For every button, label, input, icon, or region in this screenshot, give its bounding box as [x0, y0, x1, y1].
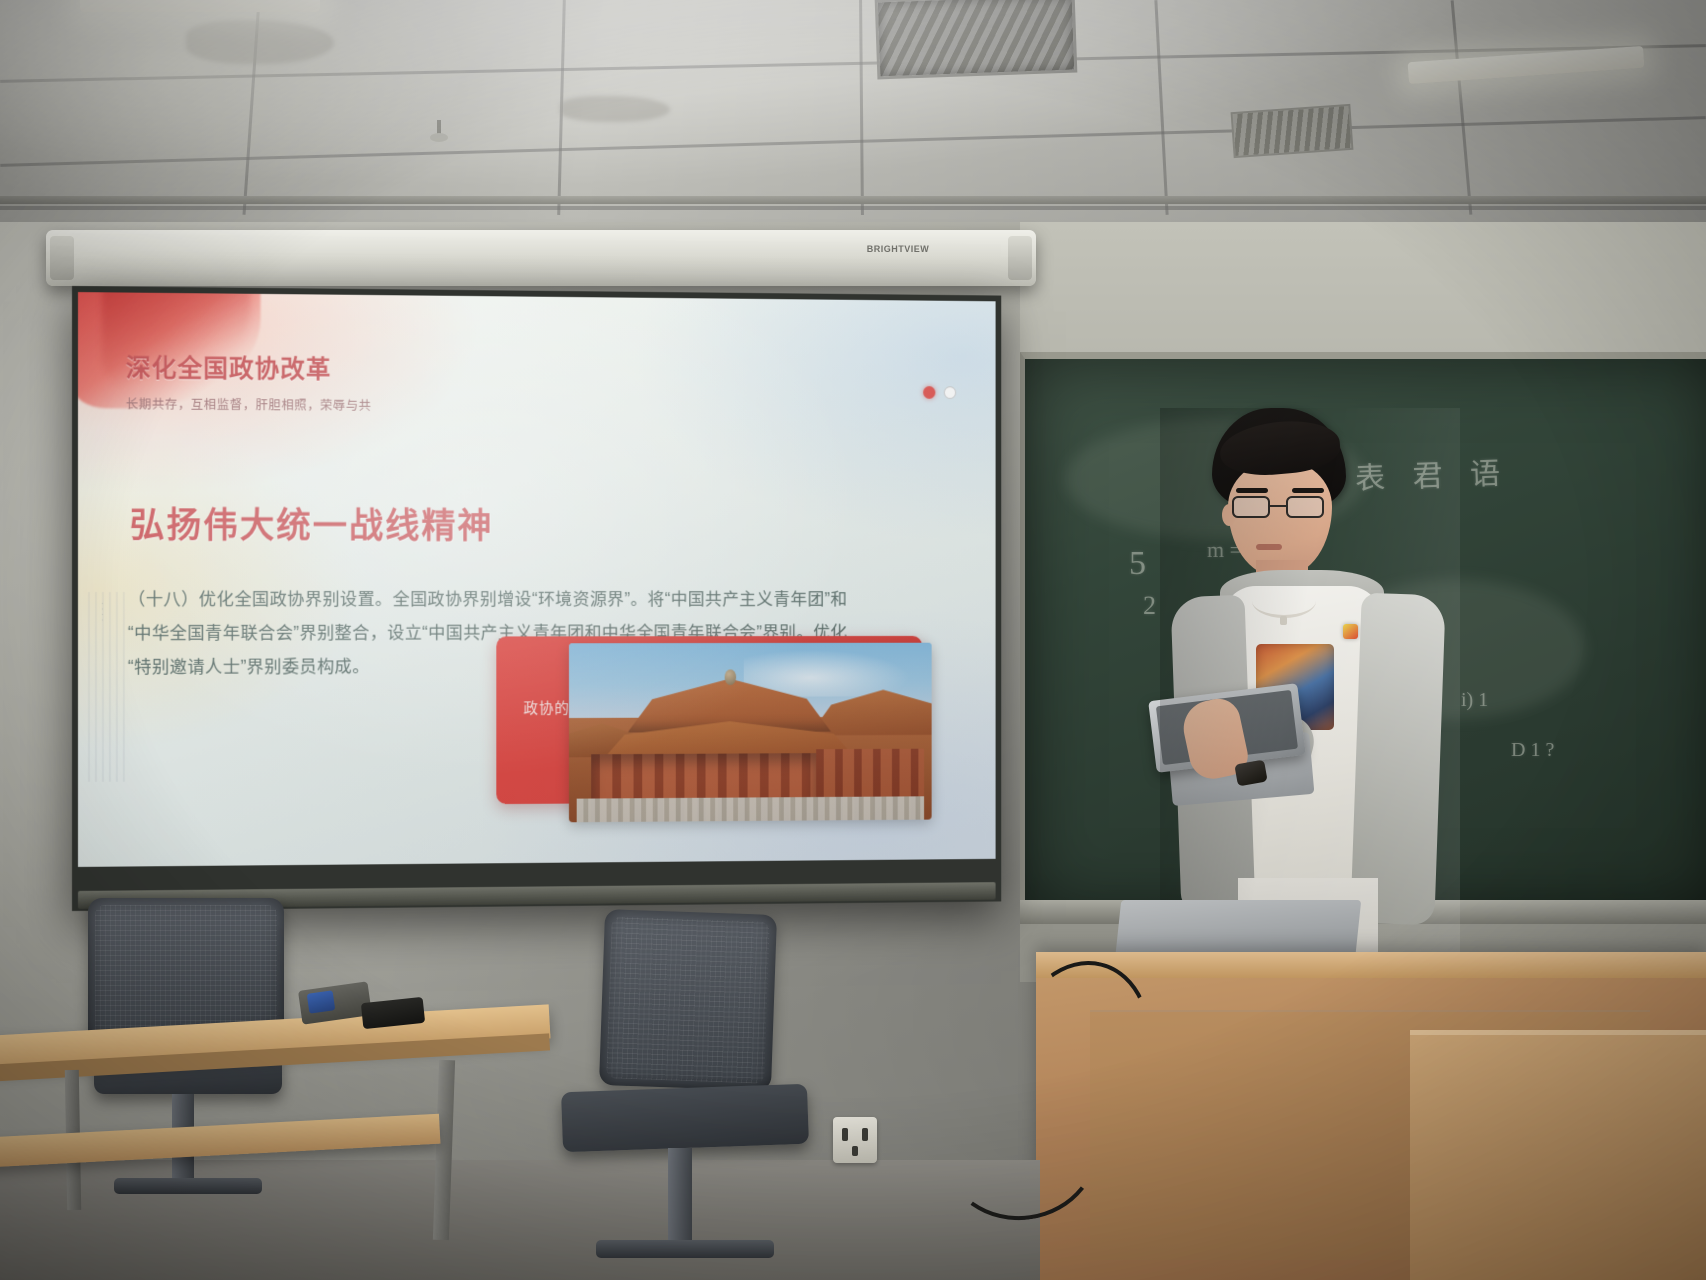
presenter-face	[1228, 460, 1332, 576]
classroom-scene: 表 君 语 5 2 m = 1 i) 1 D 1 ? BRIGHTVIEW · …	[0, 0, 1706, 1280]
presentation-slide[interactable]: · · · · 深化全国政协改革 长期共存，互相监督，肝胆相照，荣辱与共 弘扬伟…	[78, 292, 996, 867]
watermark-text: · · · ·	[92, 602, 108, 722]
ceiling	[0, 0, 1706, 232]
jacket-right-panel	[1350, 593, 1445, 926]
power-outlet[interactable]	[833, 1117, 877, 1163]
chalk-note: D 1 ?	[1511, 739, 1554, 762]
slide-page-dots[interactable]	[923, 386, 956, 399]
presenter-mouth	[1256, 544, 1282, 550]
office-chair-center[interactable]	[500, 912, 800, 1262]
page-dot-inactive[interactable]	[944, 386, 956, 399]
projection-screen[interactable]: · · · · 深化全国政协改革 长期共存，互相监督，肝胆相照，荣辱与共 弘扬伟…	[72, 286, 1001, 911]
necklace-pendant-icon	[1280, 616, 1287, 625]
slide-header-subtitle: 长期共存，互相监督，肝胆相照，荣辱与共	[126, 393, 750, 416]
chalk-note: 2	[1143, 591, 1156, 621]
slide-header-title: 深化全国政协改革	[126, 348, 750, 388]
lectern-podium-top	[1036, 952, 1706, 978]
screen-brand-label: BRIGHTVIEW	[858, 244, 938, 266]
page-dot-active[interactable]	[923, 386, 935, 399]
slide-section-title: 弘扬伟大统一战线精神	[130, 497, 494, 549]
vga-plug-head	[307, 990, 336, 1013]
glasses-icon	[1232, 496, 1328, 518]
slide-body-line: （十八）优化全国政协界别设置。全国政协界别增设“环境资源界”。将“中国共产主义青…	[128, 582, 941, 616]
slide-header: 深化全国政协改革 长期共存，互相监督，肝胆相照，荣辱与共	[126, 348, 750, 416]
lapel-badge-icon	[1343, 624, 1358, 639]
chalk-note: 5	[1129, 545, 1146, 583]
chalk-note: i) 1	[1461, 689, 1488, 712]
necklace-icon	[1252, 584, 1316, 618]
slide-photo-forbidden-city	[569, 643, 932, 823]
side-table[interactable]	[1410, 1030, 1706, 1280]
